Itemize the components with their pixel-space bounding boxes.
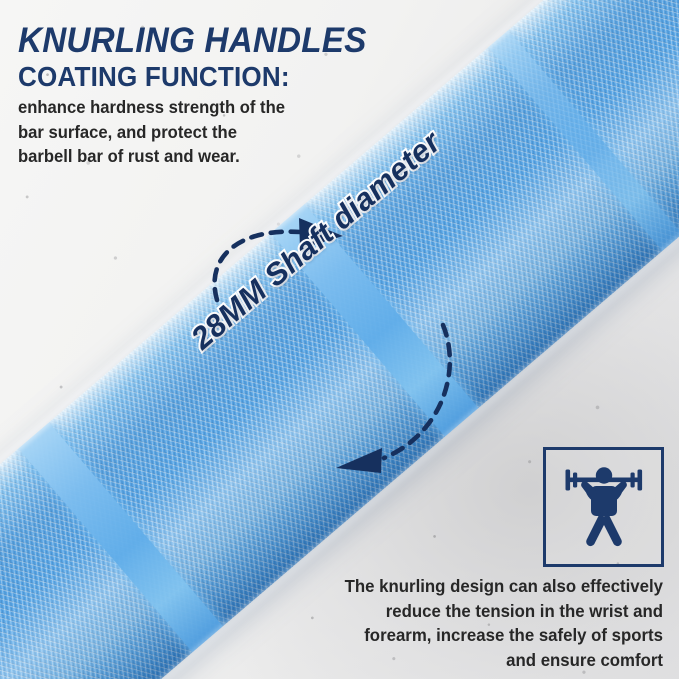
page-title: KNURLING HANDLES [18,23,366,59]
weightlifter-icon [556,462,652,552]
intro-paragraph: enhance hardness strength of the bar sur… [18,95,285,169]
weightlifter-icon-card [543,447,664,567]
page-subtitle: COATING FUNCTION: [18,62,290,91]
product-infographic: KNURLING HANDLES COATING FUNCTION: enhan… [0,0,679,679]
footer-paragraph: The knurling design can also effectively… [250,574,663,672]
